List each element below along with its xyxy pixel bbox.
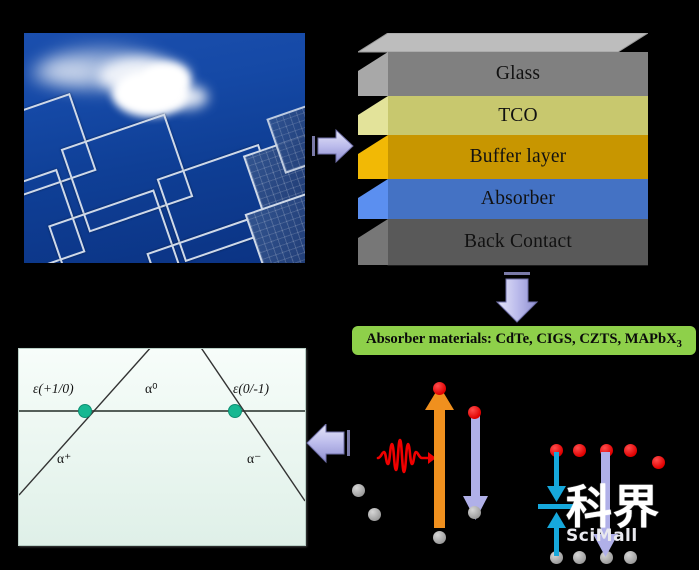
stack-layer-label: TCO [498,105,538,127]
stack-layer-absorber: Absorber [388,179,648,219]
banner-text: Absorber materials: CdTe, CIGS, CZTS, MA… [366,331,682,350]
hole-dot [468,506,481,519]
stack-layer-label: Absorber [481,188,555,210]
stack-layer-glass: Glass [388,52,648,96]
label-alpha-negative: α⁻ [247,451,261,467]
electron-dot [433,382,446,395]
negative-charge-line [187,349,305,501]
optical-excitation-arrow [424,386,456,528]
arrow-photo-to-stack [308,122,358,170]
arrow-stack-to-banner [492,270,546,326]
label-alpha-neutral: α⁰ [145,381,158,397]
absorber-materials-banner: Absorber materials: CdTe, CIGS, CZTS, MA… [352,326,696,355]
stack-layer-label: Glass [496,63,540,85]
banner-subscript: 3 [677,339,682,350]
panel-array [24,33,305,263]
label-epsilon-0-minus1: ε(0/-1) [233,381,269,397]
stack-side-absorber [358,179,390,219]
stack-side-tco [358,96,390,135]
stack-side-back-contact [358,219,390,265]
trap-level-line [538,504,576,509]
label-alpha-positive: α⁺ [57,451,71,467]
thin-film-solar-cell-layer-stack: Glass TCO Buffer layer Absorber Back Con… [358,33,648,265]
hole-dot [433,531,446,544]
hole-dot [368,508,381,521]
stack-side-buffer [358,135,390,179]
carrier-recombination-schematic [330,368,699,570]
formation-energy-lines [19,349,305,545]
label-epsilon-plus1-0: ε(+1/0) [33,381,74,397]
stack-layer-back-contact: Back Contact [388,219,648,265]
band-to-band-recombination-arrow [592,452,620,558]
stack-layer-label: Back Contact [464,231,572,253]
hole-dot [352,484,365,497]
electron-dot [624,444,637,457]
stack-layer-tco: TCO [388,96,648,135]
electron-dot [652,456,665,469]
stack-top-face [358,33,648,53]
stack-side-glass [358,52,390,96]
transition-level-marker-0-minus1 [229,405,242,418]
transition-level-marker-plus1-0 [79,405,92,418]
trap-assisted-recombination-arrows [536,452,580,556]
positive-charge-line [19,349,169,495]
formation-energy-chart: ε(+1/0) α⁰ ε(0/-1) α⁺ α⁻ [18,348,306,546]
stack-layer-label: Buffer layer [470,146,567,168]
figure-canvas: Glass TCO Buffer layer Absorber Back Con… [0,0,699,570]
solar-panel-array-photograph [24,33,305,263]
stack-layer-buffer: Buffer layer [388,135,648,179]
hole-dot [624,551,637,564]
electron-dot [468,406,481,419]
